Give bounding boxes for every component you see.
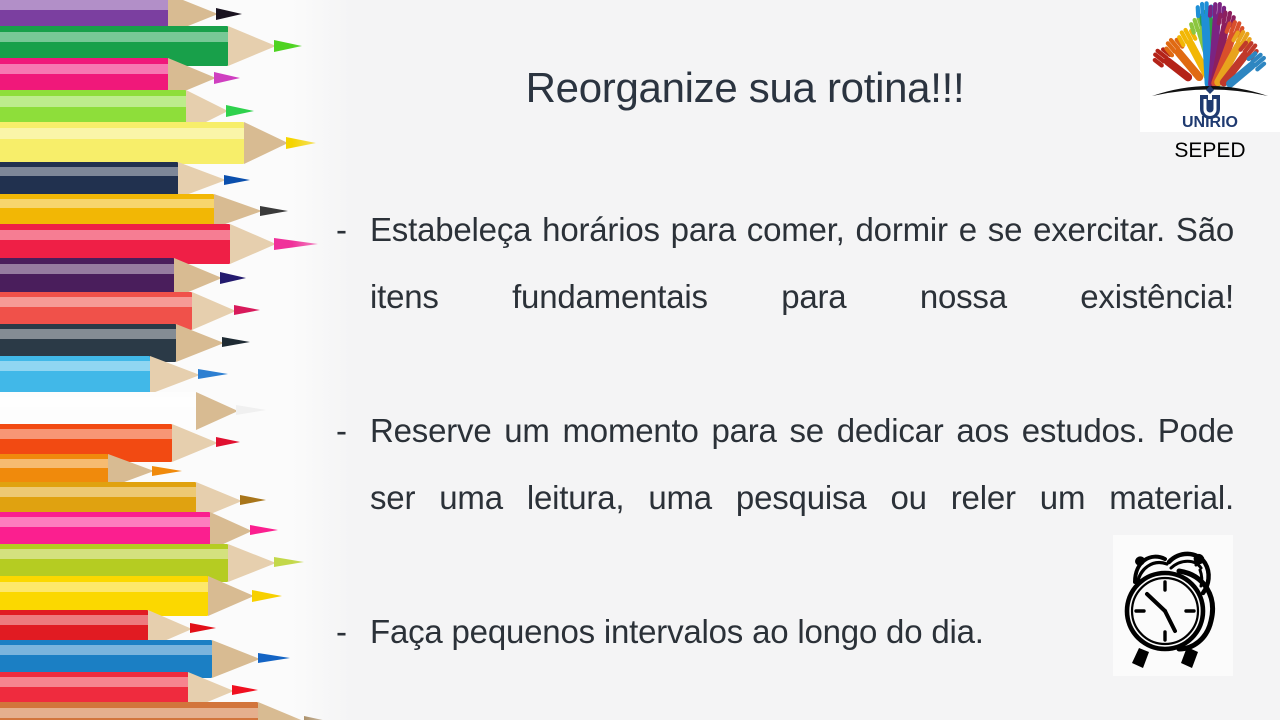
pencil-lead [258, 653, 290, 663]
pencil-lead [252, 590, 282, 602]
pencil-lead [236, 405, 266, 415]
unirio-wordmark: UNIRIO [1182, 114, 1238, 131]
pencil-wood-tip [178, 162, 226, 198]
pencil-lead [198, 369, 228, 379]
pencil-lead [240, 495, 266, 505]
pencil-lead [250, 525, 278, 535]
bullet-dash: - [336, 397, 347, 464]
pencil-lead [152, 466, 182, 476]
pencil-lead [222, 337, 250, 347]
pencil-lead [190, 623, 216, 633]
pencil-barrel [0, 122, 244, 164]
pencil-lead [274, 40, 302, 52]
bullet-item: - Reserve um momento para se dedicar aos… [334, 397, 1234, 598]
bullet-text: Reserve um momento para se dedicar aos e… [370, 397, 1234, 598]
pencil-wood-tip [258, 702, 306, 720]
unirio-logo: UNIRIO [1140, 0, 1280, 132]
bullet-list: - Estabeleça horários para comer, dormir… [334, 196, 1234, 665]
presentation-slide: Reorganize sua rotina!!! - Estabeleça ho… [0, 0, 1280, 720]
pencil-barrel [0, 702, 258, 720]
colored-pencil [0, 194, 290, 228]
pencil-lead [260, 206, 288, 216]
pencil-lead [274, 238, 318, 250]
bullet-dash: - [336, 196, 347, 263]
colored-pencils-photo [0, 0, 352, 720]
pencil-lead [304, 716, 332, 720]
pencil-lead [232, 685, 258, 695]
pencil-barrel [0, 194, 214, 228]
pencil-wood-tip [244, 122, 288, 164]
colored-pencil [0, 122, 318, 164]
colored-pencil [0, 356, 230, 394]
pencil-wood-tip [150, 356, 200, 394]
alarm-clock-image [1113, 535, 1233, 676]
alarm-clock-icon [1113, 535, 1233, 676]
bullet-item: - Faça pequenos intervalos ao longo do d… [334, 598, 1234, 665]
bullet-text: Faça pequenos intervalos ao longo do dia… [370, 598, 1234, 665]
colored-pencil [0, 702, 334, 720]
pencil-lead [216, 437, 240, 447]
slide-title: Reorganize sua rotina!!! [360, 62, 1130, 114]
pencil-lead [286, 137, 316, 149]
seped-caption: SEPED [1140, 139, 1280, 163]
pencil-wood-tip [214, 194, 262, 228]
bullet-item: - Estabeleça horários para comer, dormir… [334, 196, 1234, 397]
pencil-lead [220, 272, 246, 284]
bullet-text: Estabeleça horários para comer, dormir e… [370, 196, 1234, 397]
pencil-lead [214, 72, 240, 84]
colored-pencil [0, 162, 252, 198]
pencil-lead [274, 557, 304, 567]
unirio-logo-svg: UNIRIO [1140, 0, 1280, 132]
pencil-lead [216, 8, 242, 20]
pencil-barrel [0, 162, 178, 198]
bullet-dash: - [336, 598, 347, 665]
pencil-barrel [0, 356, 150, 394]
pencil-lead [234, 305, 260, 315]
pencil-lead [224, 175, 250, 185]
pencil-lead [226, 105, 254, 117]
